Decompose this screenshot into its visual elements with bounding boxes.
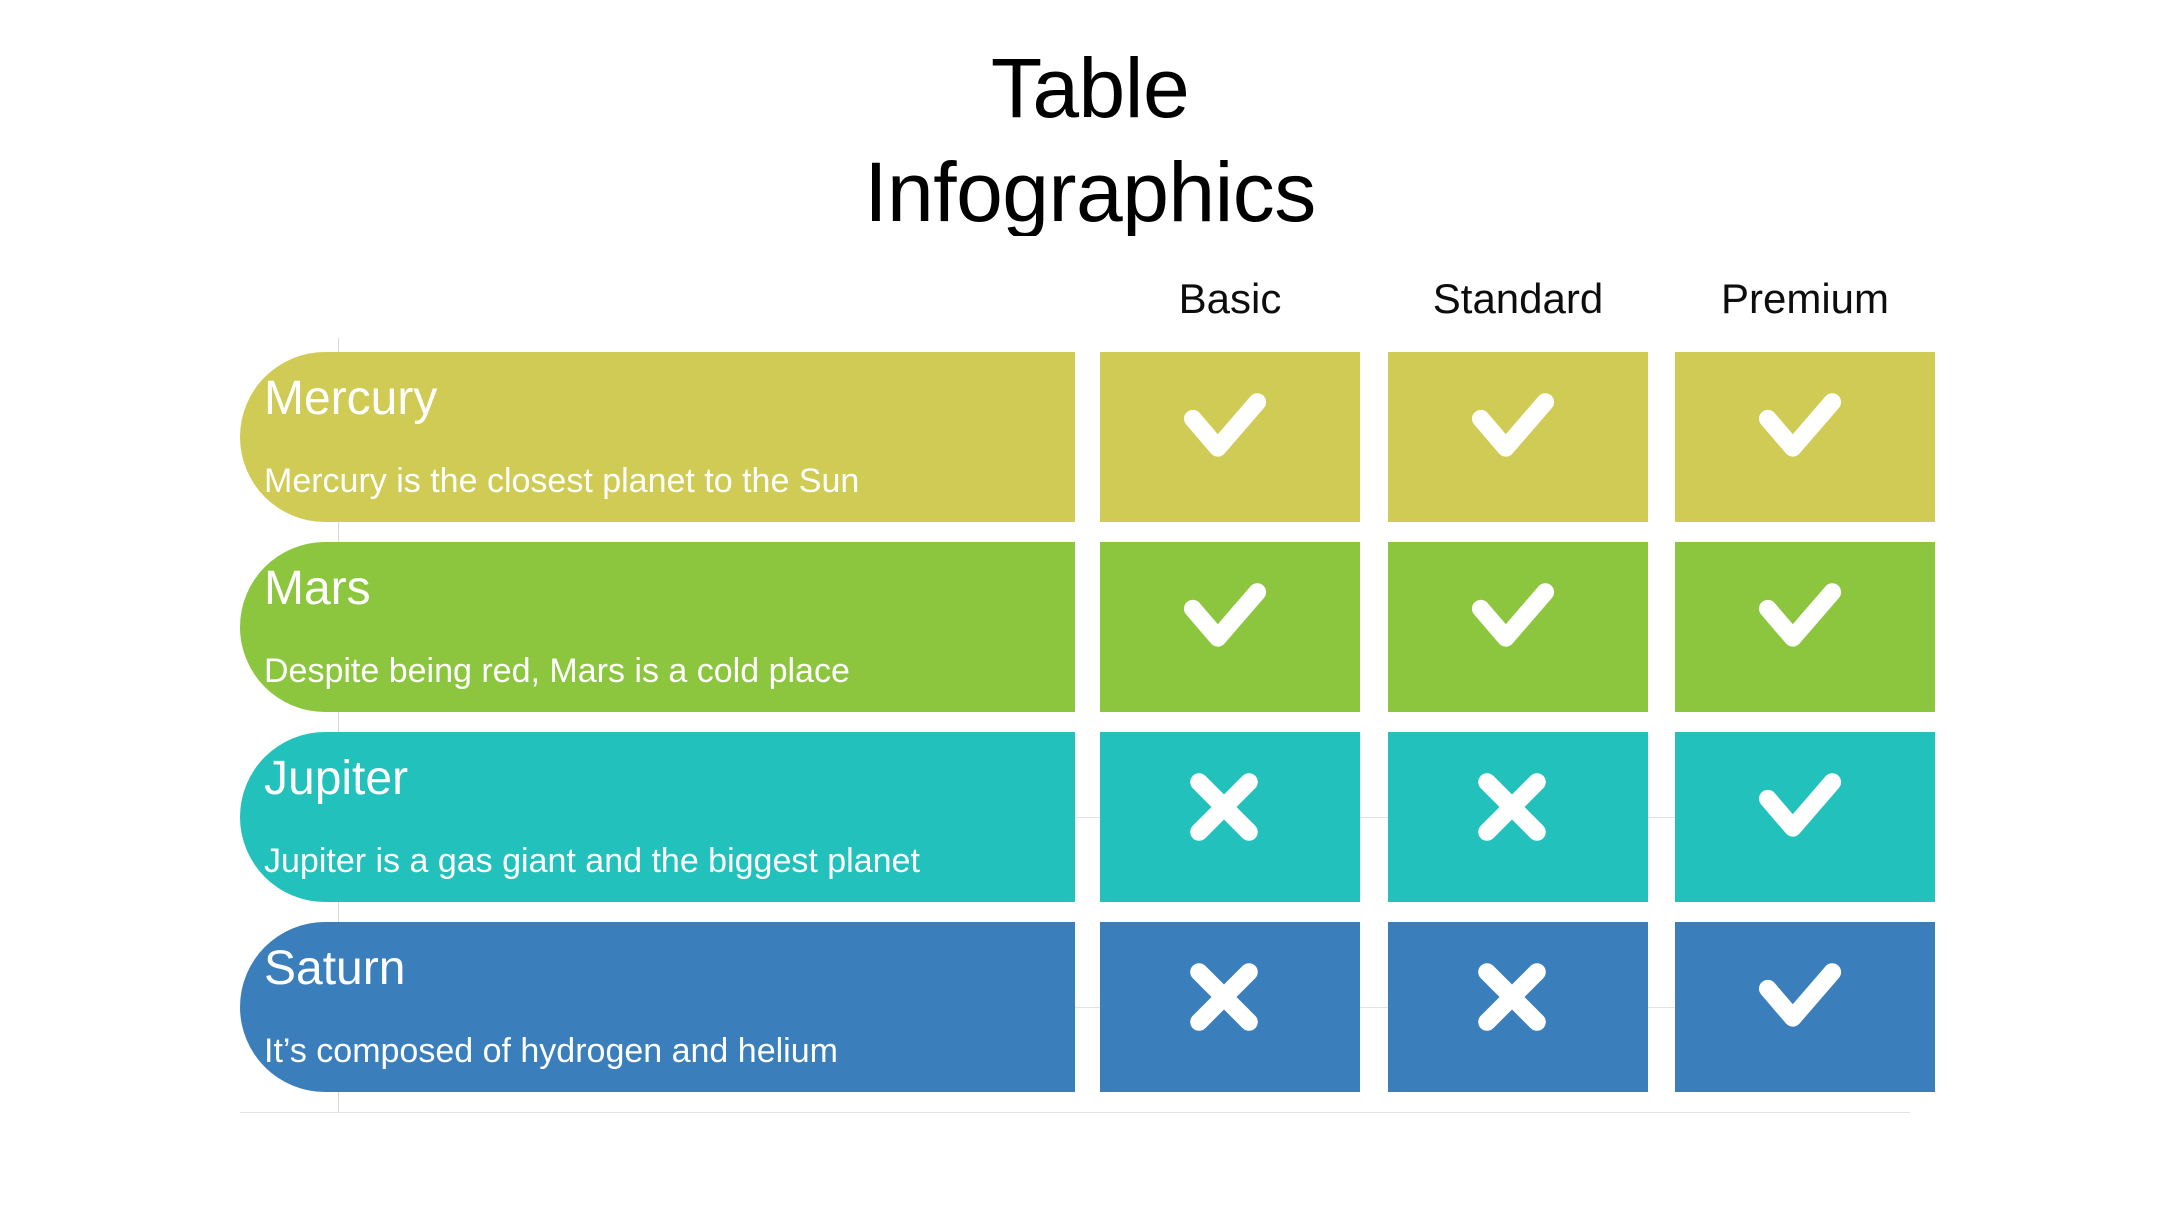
check-icon [1747,565,1851,669]
cell-mars-premium[interactable] [1675,542,1935,712]
check-icon [1172,375,1276,479]
cross-icon [1172,945,1276,1049]
page-title: Table Infographics [760,36,1420,236]
cell-jupiter-standard[interactable] [1388,732,1648,902]
check-icon [1747,755,1851,859]
check-icon [1172,565,1276,669]
check-icon [1747,945,1851,1049]
row-label-saturn[interactable]: Saturn It’s composed of hydrogen and hel… [240,922,1075,1092]
cell-mercury-basic[interactable] [1100,352,1360,522]
cell-mars-basic[interactable] [1100,542,1360,712]
cell-mars-standard[interactable] [1388,542,1648,712]
row-title: Mars [264,560,1075,618]
row-description: It’s composed of hydrogen and helium [264,1030,838,1072]
cross-icon [1460,755,1564,859]
cell-jupiter-premium[interactable] [1675,732,1935,902]
page-title-line-1: Table [760,36,1420,140]
cell-jupiter-basic[interactable] [1100,732,1360,902]
cross-icon [1172,755,1276,859]
cell-mercury-premium[interactable] [1675,352,1935,522]
cross-icon [1460,945,1564,1049]
column-header-premium: Premium [1675,272,1935,326]
table-row: Jupiter Jupiter is a gas giant and the b… [0,732,2160,902]
check-icon [1747,375,1851,479]
cell-mercury-standard[interactable] [1388,352,1648,522]
row-title: Mercury [264,370,1075,428]
check-icon [1460,375,1564,479]
row-label-mars[interactable]: Mars Despite being red, Mars is a cold p… [240,542,1075,712]
check-icon [1460,565,1564,669]
row-title: Jupiter [264,750,1075,808]
cell-saturn-basic[interactable] [1100,922,1360,1092]
row-description: Despite being red, Mars is a cold place [264,650,850,692]
guide-rule-horizontal-3 [240,1112,1910,1113]
table-row: Mercury Mercury is the closest planet to… [0,352,2160,522]
column-header-label: Basic [1179,275,1282,322]
row-title: Saturn [264,940,1075,998]
row-label-mercury[interactable]: Mercury Mercury is the closest planet to… [240,352,1075,522]
table-row: Mars Despite being red, Mars is a cold p… [0,542,2160,712]
slide-canvas: Table Infographics Basic Standard Premiu… [0,0,2160,1215]
column-header-standard: Standard [1388,272,1648,326]
column-header-label: Standard [1433,275,1603,322]
cell-saturn-standard[interactable] [1388,922,1648,1092]
table-row: Saturn It’s composed of hydrogen and hel… [0,922,2160,1092]
page-title-line-2: Infographics [760,140,1420,236]
cell-saturn-premium[interactable] [1675,922,1935,1092]
row-description: Mercury is the closest planet to the Sun [264,460,859,502]
row-label-jupiter[interactable]: Jupiter Jupiter is a gas giant and the b… [240,732,1075,902]
column-header-label: Premium [1721,275,1889,322]
row-description: Jupiter is a gas giant and the biggest p… [264,840,920,882]
column-header-basic: Basic [1100,272,1360,326]
